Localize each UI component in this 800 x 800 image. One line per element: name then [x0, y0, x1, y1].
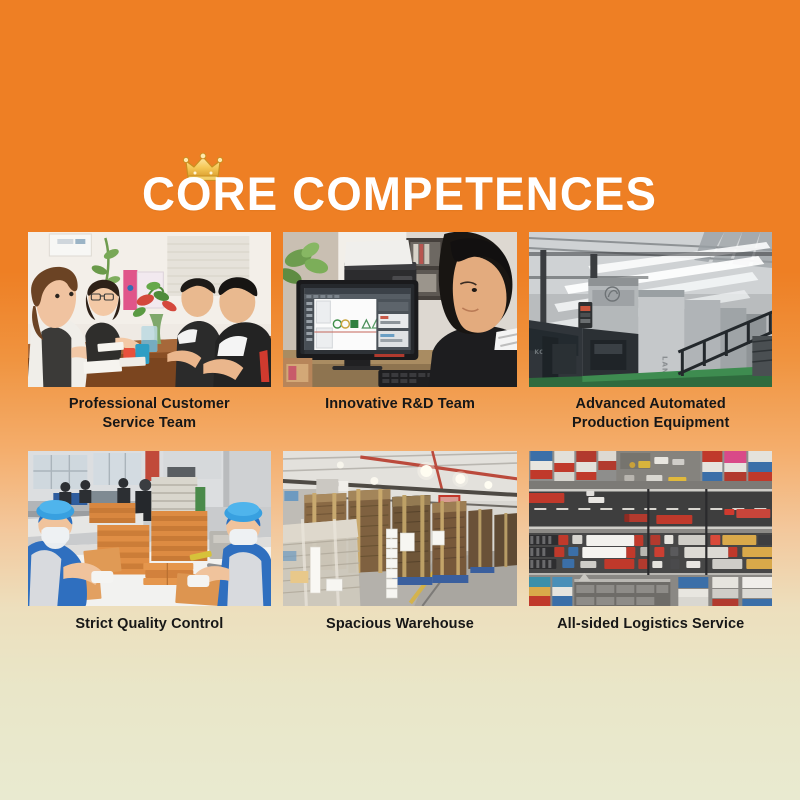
quality-inspection-photo: [28, 451, 271, 606]
card-caption: Professional Customer Service Team: [69, 395, 230, 433]
aerial-container-port-photo: [529, 451, 772, 606]
card-advanced-automated-production-equipment[interactable]: LAND 800 LAND 800 KOMORI: [529, 232, 772, 433]
card-caption: Innovative R&D Team: [325, 395, 475, 414]
competences-grid: Professional Customer Service Team: [28, 232, 772, 634]
grid-row-2: Strict Quality Control: [28, 451, 772, 634]
card-strict-quality-control[interactable]: Strict Quality Control: [28, 451, 271, 634]
designer-at-monitor-photo: [283, 232, 518, 387]
card-caption: Advanced Automated Production Equipment: [572, 395, 729, 433]
card-professional-customer-service-team[interactable]: Professional Customer Service Team: [28, 232, 271, 433]
warehouse-pallets-photo: [283, 451, 518, 606]
meeting-room-photo: [28, 232, 271, 387]
card-innovative-rd-team[interactable]: Innovative R&D Team: [283, 232, 518, 433]
card-caption: Spacious Warehouse: [326, 615, 474, 634]
printing-press-photo: LAND 800 LAND 800 KOMORI: [529, 232, 772, 387]
grid-row-1: Professional Customer Service Team: [28, 232, 772, 433]
card-spacious-warehouse[interactable]: Spacious Warehouse: [283, 451, 518, 634]
card-caption: All-sided Logistics Service: [557, 615, 744, 634]
page-title: CORE COMPETENCES: [142, 152, 657, 217]
title-block: CORE COMPETENCES: [0, 152, 800, 217]
card-caption: Strict Quality Control: [75, 615, 223, 634]
card-all-sided-logistics-service[interactable]: All-sided Logistics Service: [529, 451, 772, 634]
poster-background: CORE COMPETENCES: [0, 0, 800, 800]
